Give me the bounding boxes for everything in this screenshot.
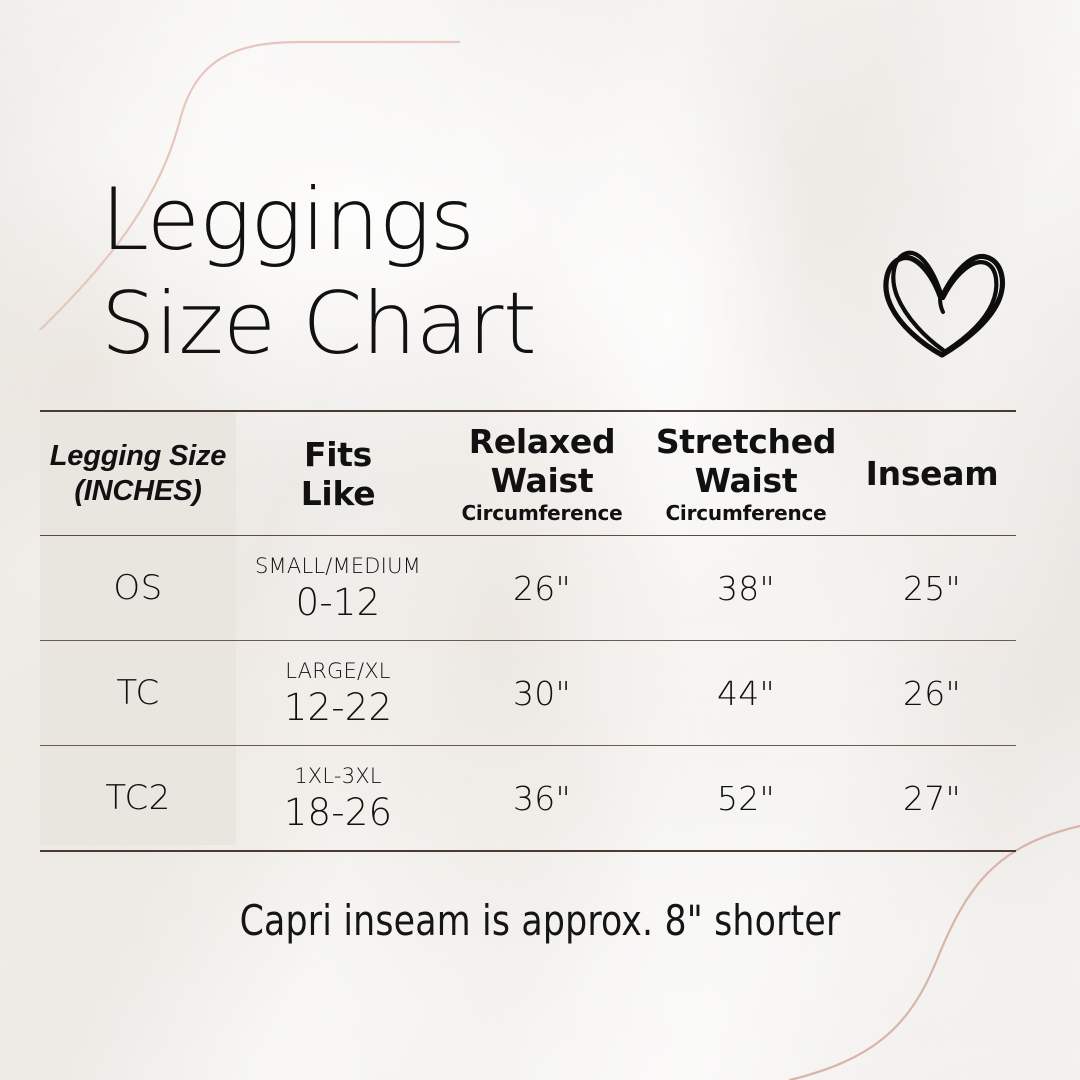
- cell-relaxed-waist: 36": [440, 746, 644, 852]
- cell-fits-like-range: 0-12: [296, 584, 381, 621]
- column-header-relaxed-waist-sub: Circumference: [461, 501, 622, 525]
- column-header-fits-like-line-1: Fits: [304, 435, 372, 474]
- size-chart-table: Legging Size (INCHES) Fits Like Relaxed: [40, 410, 1016, 852]
- size-chart-table-wrapper: Legging Size (INCHES) Fits Like Relaxed: [40, 410, 1016, 852]
- page-title-line-1: Leggings: [101, 168, 801, 272]
- column-header-legging-size-line-1: Legging Size: [50, 439, 226, 474]
- cell-inseam: 25": [848, 536, 1016, 641]
- column-header-legging-size-line-2: (INCHES): [74, 474, 201, 509]
- column-header-relaxed-waist-line-1: Relaxed: [469, 422, 616, 461]
- cell-legging-size: OS: [40, 536, 236, 641]
- column-header-fits-like: Fits Like: [236, 411, 440, 536]
- cell-stretched-waist: 52": [644, 746, 848, 852]
- column-header-stretched-waist-line-1: Stretched: [656, 422, 836, 461]
- cell-fits-like-range: 18-26: [284, 794, 393, 831]
- column-header-relaxed-waist: Relaxed Waist Circumference: [440, 411, 644, 536]
- cell-fits-like-label: 1XL-3XL: [294, 766, 382, 787]
- cell-fits-like-range: 12-22: [284, 689, 393, 726]
- cell-fits-like-label: SMALL/MEDIUM: [255, 556, 421, 577]
- column-header-relaxed-waist-line-2: Waist: [491, 461, 594, 500]
- cell-fits-like: SMALL/MEDIUM 0-12: [236, 536, 440, 641]
- table-row: TC2 1XL-3XL 18-26 36" 52" 27": [40, 746, 1016, 852]
- page-title-line-2: Size Chart: [101, 272, 801, 376]
- cell-fits-like: 1XL-3XL 18-26: [236, 746, 440, 852]
- size-chart-poster: Leggings Size Chart Legging Size (INCHES…: [0, 0, 1080, 1080]
- column-header-inseam-line-1: Inseam: [866, 454, 999, 493]
- table-row: TC LARGE/XL 12-22 30" 44" 26": [40, 641, 1016, 746]
- cell-legging-size: TC2: [40, 746, 236, 852]
- cell-relaxed-waist: 30": [440, 641, 644, 746]
- table-row: OS SMALL/MEDIUM 0-12 26" 38" 25": [40, 536, 1016, 641]
- cell-legging-size: TC: [40, 641, 236, 746]
- cell-inseam: 27": [848, 746, 1016, 852]
- cell-inseam: 26": [848, 641, 1016, 746]
- cell-fits-like-label: LARGE/XL: [285, 661, 390, 682]
- page-title: Leggings Size Chart: [101, 168, 801, 376]
- column-header-stretched-waist: Stretched Waist Circumference: [644, 411, 848, 536]
- footer-note: Capri inseam is approx. 8" shorter: [43, 896, 1037, 945]
- cell-fits-like: LARGE/XL 12-22: [236, 641, 440, 746]
- column-header-inseam: Inseam: [848, 411, 1016, 536]
- cell-stretched-waist: 44": [644, 641, 848, 746]
- cell-stretched-waist: 38": [644, 536, 848, 641]
- heart-doodle-icon: [874, 228, 1010, 358]
- table-header-row: Legging Size (INCHES) Fits Like Relaxed: [40, 411, 1016, 536]
- column-header-stretched-waist-sub: Circumference: [665, 501, 826, 525]
- column-header-stretched-waist-line-2: Waist: [695, 461, 798, 500]
- column-header-legging-size: Legging Size (INCHES): [40, 411, 236, 536]
- cell-relaxed-waist: 26": [440, 536, 644, 641]
- column-header-fits-like-line-2: Like: [301, 474, 376, 513]
